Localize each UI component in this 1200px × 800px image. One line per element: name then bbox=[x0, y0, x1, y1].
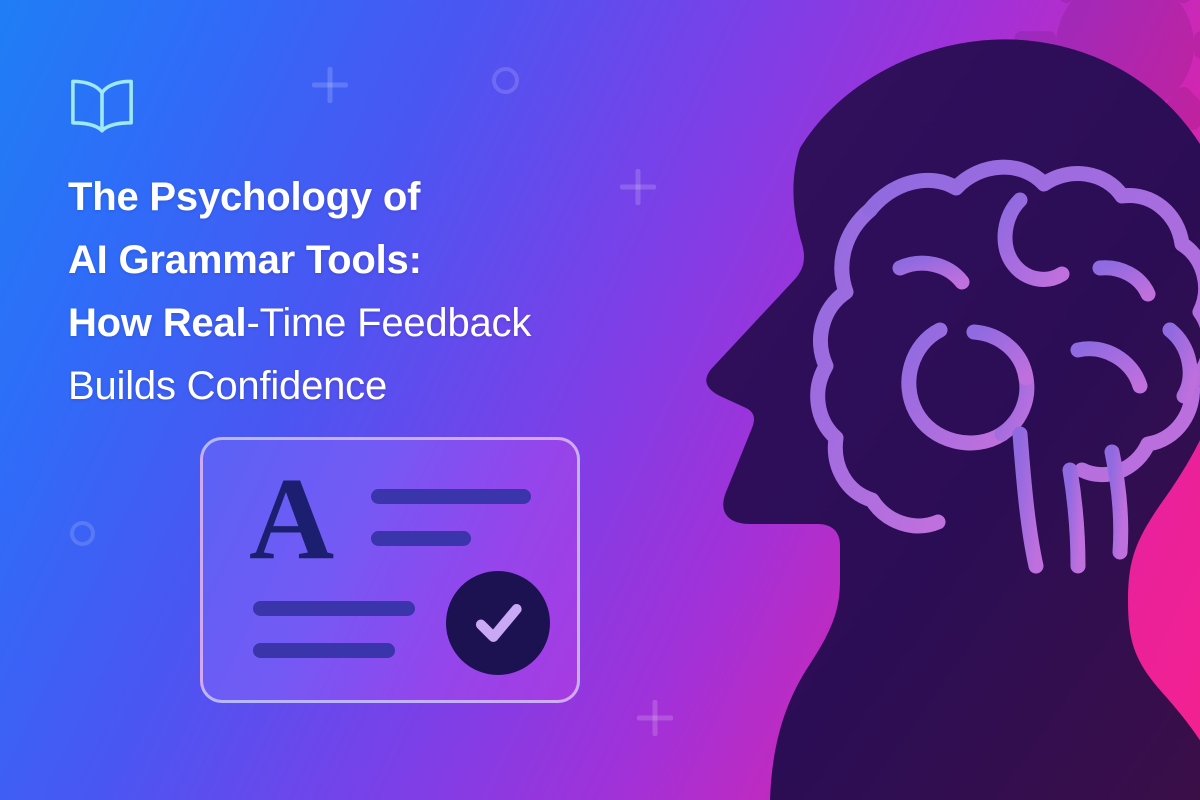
text-bar-2 bbox=[371, 531, 471, 546]
plus-decoration-icon bbox=[312, 67, 348, 103]
headline-line-3: How Real-Time Feedback bbox=[68, 292, 688, 355]
headline-line-2: AI Grammar Tools: bbox=[68, 229, 688, 292]
headline-line-1: The Psychology of bbox=[68, 166, 688, 229]
open-book-icon bbox=[66, 78, 138, 134]
circle-decoration-icon bbox=[70, 521, 95, 546]
circle-decoration-icon bbox=[492, 67, 519, 94]
grammar-card-illustration: A bbox=[200, 437, 580, 703]
hero-banner: The Psychology of AI Grammar Tools: How … bbox=[0, 0, 1200, 800]
headline-line-4: Builds Confidence bbox=[68, 355, 688, 418]
head-silhouette-illustration bbox=[600, 0, 1200, 800]
headline-line-3-light: -Time Feedback bbox=[246, 301, 531, 345]
text-bar-3 bbox=[253, 601, 415, 616]
status-badge bbox=[446, 571, 550, 675]
text-bar-1 bbox=[371, 489, 531, 504]
text-bar-4 bbox=[253, 643, 395, 658]
page-title: The Psychology of AI Grammar Tools: How … bbox=[68, 166, 688, 418]
letter-a-icon: A bbox=[249, 460, 334, 578]
check-mark-icon bbox=[467, 592, 529, 654]
headline-line-3-bold: How Real bbox=[68, 301, 246, 345]
